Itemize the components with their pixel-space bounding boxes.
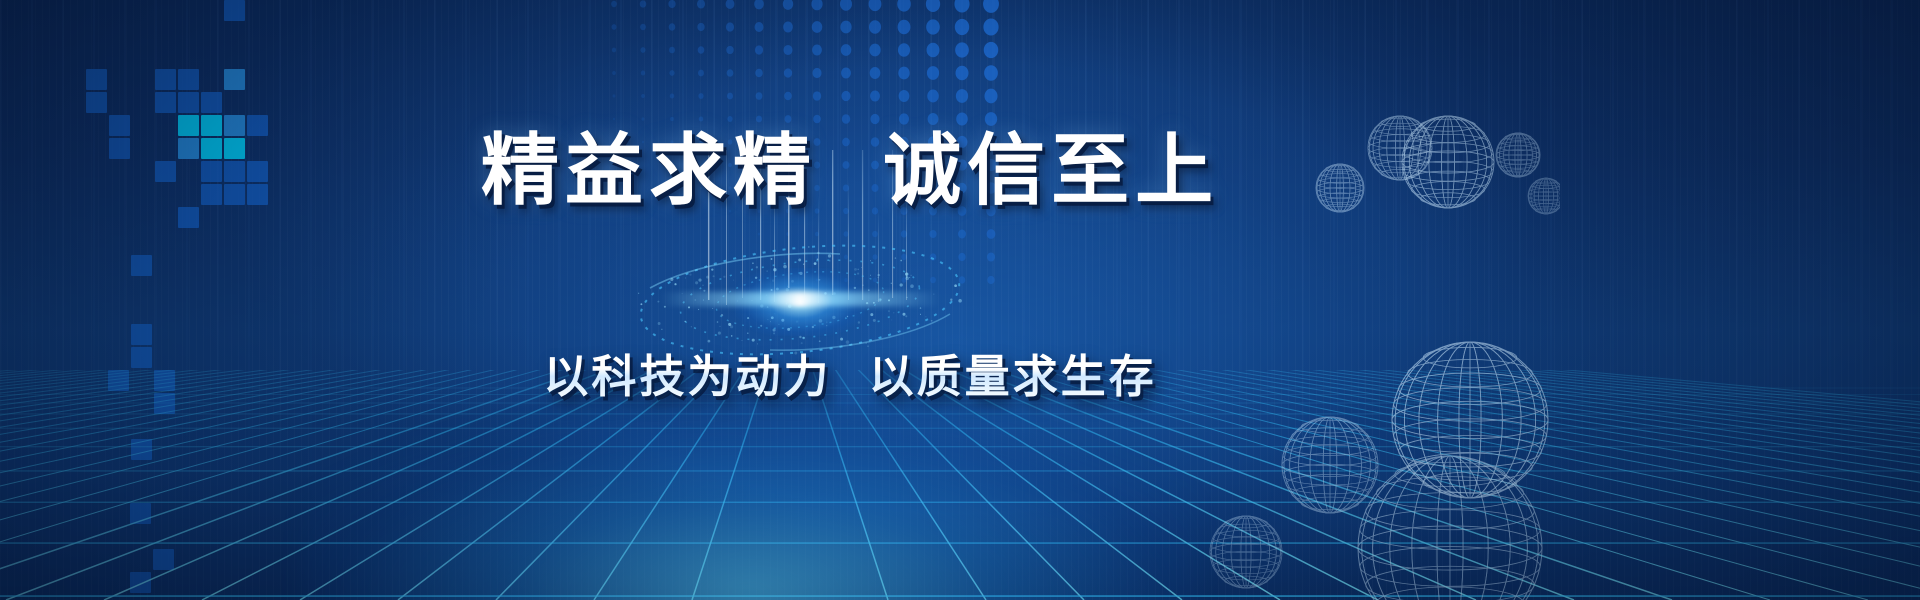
subtitle-text: 以科技为动力 以质量求生存	[543, 340, 1156, 405]
floor-glow	[300, 420, 1200, 600]
tech-banner: 精益求精 诚信至上 以科技为动力 以质量求生存	[0, 0, 1920, 600]
subtitle: 以科技为动力 以质量求生存	[0, 340, 1810, 405]
headline: 精益求精 诚信至上	[0, 108, 1810, 220]
core-flare	[660, 292, 940, 306]
headline-text: 精益求精 诚信至上	[481, 108, 1219, 220]
